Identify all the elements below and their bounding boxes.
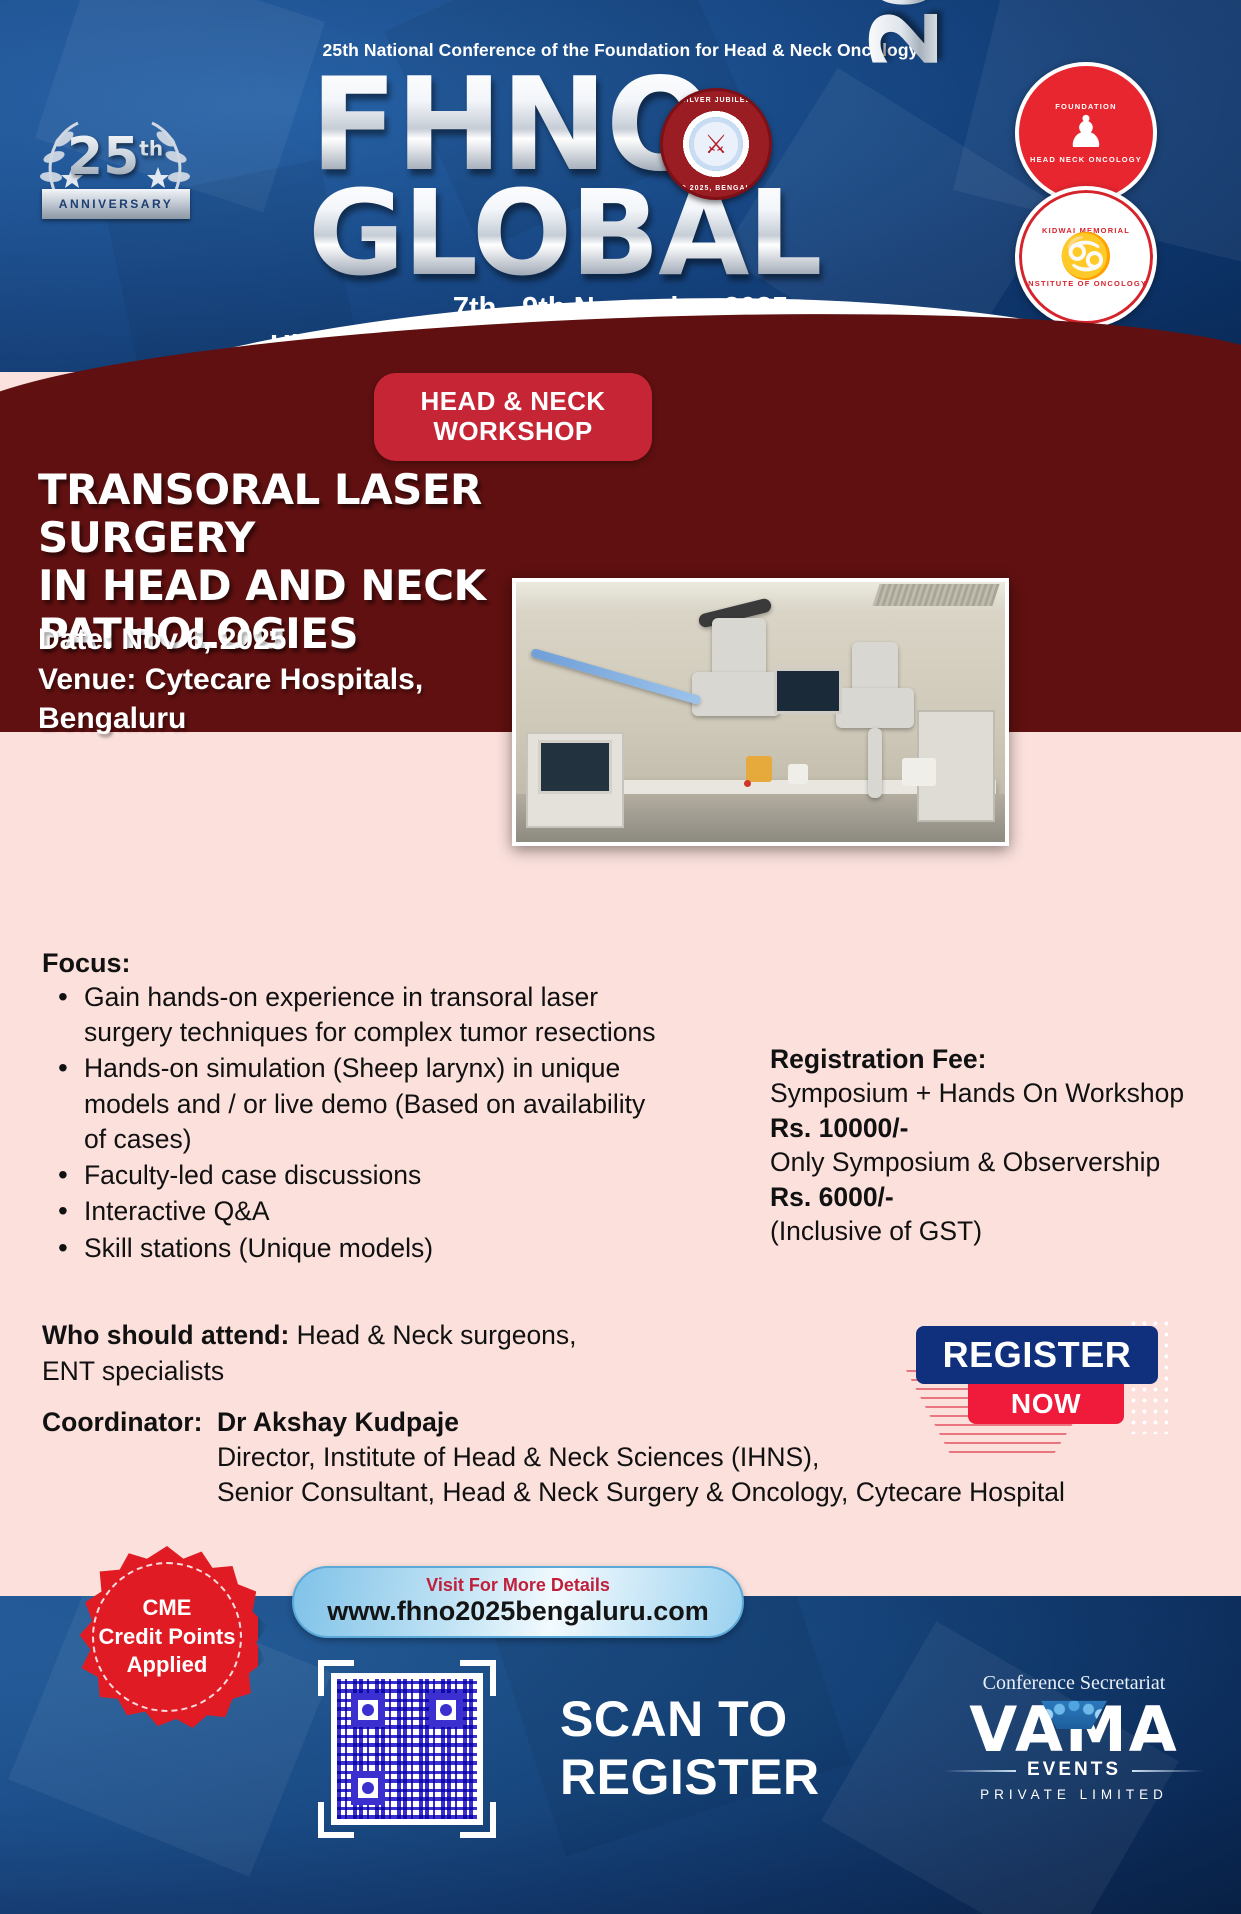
photo-ceiling-vent [872,584,999,606]
photo-specimen-model [746,756,772,782]
jubilee-emblem-icon: ⚔ [689,117,743,171]
wordmark-year: 2025 [860,0,952,70]
silver-jubilee-seal: SILVER JUBILEE FHNO 2025, BENGALURU ⚔ [660,88,772,200]
vama-events-text: EVENTS [940,1759,1208,1781]
photo-monitor [774,668,842,714]
qr-code-block[interactable] [318,1660,496,1838]
website-visit-label: Visit For More Details [426,1576,610,1596]
focus-list-item: Interactive Q&A [50,1194,670,1229]
qr-finder-top-left [351,1693,385,1727]
operating-room-photo [512,578,1009,846]
scan-to-register-text: SCAN TO REGISTER [560,1690,820,1806]
workshop-badge-line1: HEAD & NECK [421,387,606,417]
register-now-badge[interactable]: REGISTER NOW [912,1318,1162,1448]
registration-option2-label: Only Symposium & Observership [770,1145,1220,1179]
audience-value-line1: Head & Neck surgeons, [289,1320,576,1350]
crab-emblem-icon: ♋ [1059,235,1114,279]
focus-list-item: Hands-on simulation (Sheep larynx) in un… [50,1051,670,1157]
conference-secretariat-block: Conference Secretariat VAMA EVENTS PRIVA… [940,1672,1208,1802]
head-profile-icon: ♟ [1066,111,1105,155]
focus-list-item: Skill stations (Unique models) [50,1231,670,1266]
cme-seal-text: CME Credit Points Applied [76,1546,258,1728]
scan-line2: REGISTER [560,1748,820,1806]
anniversary-badge: 25th ANNIVERSARY [20,105,210,245]
photo-cart-screen [538,740,612,794]
audience-value-line2: ENT specialists [42,1354,742,1390]
registration-fee-block: Registration Fee: Symposium + Hands On W… [770,1042,1220,1249]
photo-indicator-light [744,780,751,787]
cme-credit-seal: CME Credit Points Applied [76,1546,258,1728]
register-button[interactable]: REGISTER [916,1326,1158,1384]
focus-list: Gain hands-on experience in transoral la… [50,980,670,1267]
focus-list-item: Gain hands-on experience in transoral la… [50,980,670,1050]
coordinator-label: Coordinator: [42,1405,217,1440]
logo-bottom-label: HEAD NECK ONCOLOGY [1030,155,1142,164]
logo-bottom-label: INSTITUTE OF ONCOLOGY [1025,279,1147,288]
vama-logo: VAMA [940,1699,1208,1761]
cme-line1: CME [143,1594,192,1623]
photo-microscope-body [692,672,780,716]
cme-line3: Applied [127,1651,208,1680]
jubilee-top-text: SILVER JUBILEE [663,97,769,104]
logo-foundation-head-neck-oncology: FOUNDATION ♟ HEAD NECK ONCOLOGY [1015,62,1157,204]
workshop-badge-line2: WORKSHOP [433,417,592,447]
conference-poster: 25th National Conference of the Foundati… [0,0,1241,1914]
qr-finder-top-right [429,1693,463,1727]
workshop-title-line1: TRANSORAL LASER SURGERY [38,466,678,562]
registration-gst-note: (Inclusive of GST) [770,1214,1220,1248]
registration-heading: Registration Fee: [770,1042,1220,1076]
jubilee-bottom-text: FHNO 2025, BENGALURU [663,185,769,192]
qr-finder-bottom-left [351,1771,385,1805]
photo-microscope-stand [868,728,882,798]
website-pill[interactable]: Visit For More Details www.fhno2025benga… [292,1566,744,1638]
cme-line2: Credit Points [99,1623,236,1652]
anniversary-number: 25th [20,127,210,187]
photo-tray-2 [902,758,936,786]
focus-heading: Focus: [42,948,131,979]
registration-option1-label: Symposium + Hands On Workshop [770,1076,1220,1110]
website-url[interactable]: www.fhno2025bengaluru.com [327,1596,709,1628]
anniversary-ribbon: ANNIVERSARY [42,189,190,219]
audience-block: Who should attend: Head & Neck surgeons,… [42,1318,742,1389]
fhno-global-wordmark: FHNO GLOBAL 2025 [300,62,960,292]
photo-microscope-body-2 [836,688,914,728]
now-button[interactable]: NOW [968,1384,1124,1424]
photo-tray [788,764,808,784]
registration-option2-price: Rs. 6000/- [770,1180,1220,1214]
registration-option1-price: Rs. 10000/- [770,1111,1220,1145]
focus-list-item: Faculty-led case discussions [50,1158,670,1193]
scan-line1: SCAN TO [560,1690,820,1748]
coordinator-role-line2: Senior Consultant, Head & Neck Surgery &… [217,1475,1202,1510]
secretariat-label: Conference Secretariat [940,1672,1208,1695]
qr-code-icon[interactable] [331,1673,483,1825]
vama-private-limited-text: PRIVATE LIMITED [940,1787,1208,1802]
coordinator-name: Dr Akshay Kudpaje [217,1407,459,1437]
workshop-badge: HEAD & NECK WORKSHOP [374,373,652,461]
audience-label: Who should attend: [42,1320,289,1350]
